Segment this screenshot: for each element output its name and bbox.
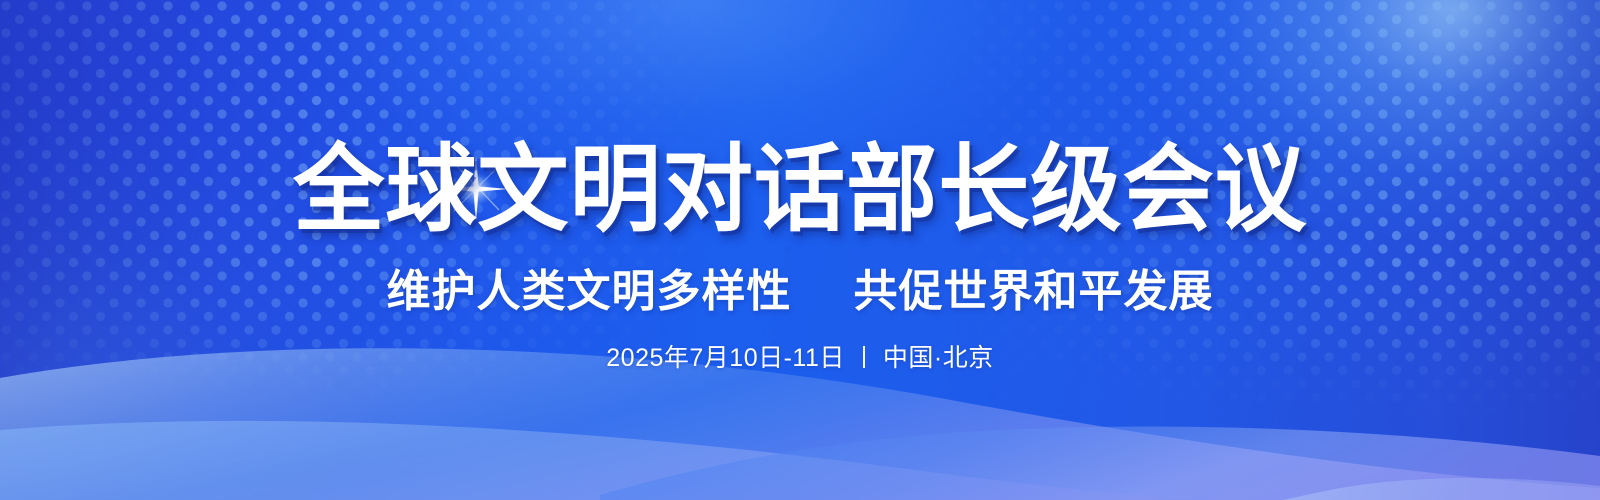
banner-subtitle: 维护人类文明多样性共促世界和平发展 [0,270,1600,314]
event-date: 2025年7月10日-11日 [606,346,845,371]
subtitle-left-phrase: 维护人类文明多样性 [387,267,792,316]
page-title: 全球文明对话部长级会议 [32,143,1568,238]
subtitle-right-phrase: 共促世界和平发展 [854,267,1214,316]
event-location: 中国·北京 [883,346,994,371]
banner-meta-line: 2025年7月10日-11日中国·北京 [0,345,1600,371]
conference-banner: 全球文明对话部长级会议 维护人类文明多样性共促世界和平发展 2025年7月10日… [0,0,1600,500]
meta-divider-icon [863,346,865,368]
